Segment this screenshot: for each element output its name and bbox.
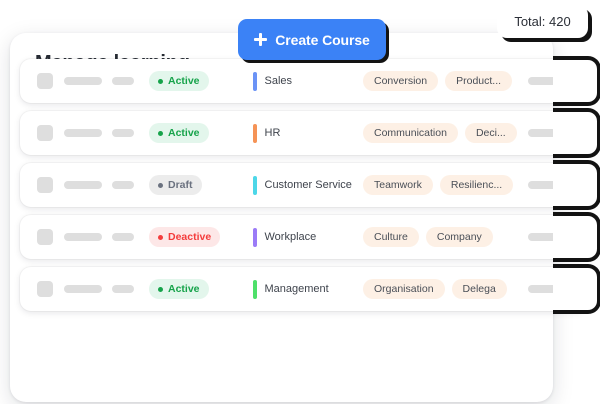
category-label: Sales bbox=[265, 75, 293, 87]
row-overflow-fill bbox=[553, 111, 597, 155]
row-thumbnail-placeholder bbox=[37, 73, 53, 89]
tag-chip[interactable]: Delega bbox=[452, 279, 507, 299]
category-label: HR bbox=[265, 127, 281, 139]
status-dot-icon bbox=[158, 79, 163, 84]
row-title-placeholder bbox=[64, 129, 102, 137]
status-dot-icon bbox=[158, 131, 163, 136]
status-label: Deactive bbox=[168, 231, 211, 243]
status-cell: Deactive bbox=[149, 227, 253, 247]
status-cell: Draft bbox=[149, 175, 253, 195]
category-accent-bar bbox=[253, 176, 257, 195]
table-row[interactable]: Draft Customer Service Teamwork Resilien… bbox=[20, 163, 587, 207]
status-dot-icon bbox=[158, 287, 163, 292]
status-cell: Active bbox=[149, 71, 253, 91]
row-thumbnail-placeholder bbox=[37, 229, 53, 245]
category-cell: Workplace bbox=[253, 228, 363, 247]
category-label: Workplace bbox=[265, 231, 317, 243]
row-title-placeholder bbox=[64, 285, 102, 293]
category-cell: Customer Service bbox=[253, 176, 363, 195]
row-overflow-fill bbox=[553, 59, 597, 103]
create-course-button-wrap: Create Course bbox=[238, 19, 386, 60]
category-accent-bar bbox=[253, 228, 257, 247]
tag-chip[interactable]: Culture bbox=[363, 227, 419, 247]
row-subtitle-placeholder bbox=[112, 285, 134, 293]
status-dot-icon bbox=[158, 235, 163, 240]
total-badge-wrap: Total: 420 bbox=[497, 5, 588, 38]
category-accent-bar bbox=[253, 124, 257, 143]
create-course-button[interactable]: Create Course bbox=[238, 19, 386, 60]
category-accent-bar bbox=[253, 72, 257, 91]
tags-cell: Teamwork Resilienc... bbox=[363, 175, 528, 195]
row-overflow-fill bbox=[553, 163, 597, 207]
status-label: Draft bbox=[168, 179, 193, 191]
status-label: Active bbox=[168, 75, 200, 87]
row-overflow-fill bbox=[553, 215, 597, 259]
row-thumbnail-placeholder bbox=[37, 177, 53, 193]
status-badge: Draft bbox=[149, 175, 202, 195]
tags-cell: Organisation Delega bbox=[363, 279, 528, 299]
status-cell: Active bbox=[149, 279, 253, 299]
row-title-placeholder bbox=[64, 77, 102, 85]
total-badge: Total: 420 bbox=[497, 5, 588, 38]
table-row[interactable]: Deactive Workplace Culture Company bbox=[20, 215, 587, 259]
table-row[interactable]: Active HR Communication Deci... bbox=[20, 111, 587, 155]
total-badge-label: Total: 420 bbox=[514, 14, 570, 29]
row-subtitle-placeholder bbox=[112, 129, 134, 137]
row-subtitle-placeholder bbox=[112, 77, 134, 85]
tag-chip[interactable]: Teamwork bbox=[363, 175, 433, 195]
row-subtitle-placeholder bbox=[112, 181, 134, 189]
row-thumbnail-placeholder bbox=[37, 125, 53, 141]
row-subtitle-placeholder bbox=[112, 233, 134, 241]
tag-chip[interactable]: Conversion bbox=[363, 71, 438, 91]
category-label: Management bbox=[265, 283, 329, 295]
tag-chip[interactable]: Resilienc... bbox=[440, 175, 513, 195]
table-row[interactable]: Active Management Organisation Delega bbox=[20, 267, 587, 311]
status-badge: Deactive bbox=[149, 227, 220, 247]
category-cell: Management bbox=[253, 280, 363, 299]
status-badge: Active bbox=[149, 123, 209, 143]
row-overflow-fill bbox=[553, 267, 597, 311]
screenshot-root: Manage learning Active Sales Conversion bbox=[0, 0, 600, 404]
category-accent-bar bbox=[253, 280, 257, 299]
status-label: Active bbox=[168, 283, 200, 295]
create-course-label: Create Course bbox=[275, 32, 369, 48]
table-row[interactable]: Active Sales Conversion Product... bbox=[20, 59, 587, 103]
category-cell: Sales bbox=[253, 72, 363, 91]
status-badge: Active bbox=[149, 71, 209, 91]
tag-chip[interactable]: Deci... bbox=[465, 123, 517, 143]
tag-chip[interactable]: Product... bbox=[445, 71, 512, 91]
category-label: Customer Service bbox=[265, 179, 352, 191]
status-dot-icon bbox=[158, 183, 163, 188]
tag-chip[interactable]: Organisation bbox=[363, 279, 445, 299]
status-badge: Active bbox=[149, 279, 209, 299]
tags-cell: Conversion Product... bbox=[363, 71, 528, 91]
tags-cell: Communication Deci... bbox=[363, 123, 528, 143]
tag-chip[interactable]: Company bbox=[426, 227, 493, 247]
row-title-placeholder bbox=[64, 181, 102, 189]
plus-icon bbox=[254, 33, 267, 46]
category-cell: HR bbox=[253, 124, 363, 143]
row-thumbnail-placeholder bbox=[37, 281, 53, 297]
status-label: Active bbox=[168, 127, 200, 139]
tag-chip[interactable]: Communication bbox=[363, 123, 458, 143]
status-cell: Active bbox=[149, 123, 253, 143]
tags-cell: Culture Company bbox=[363, 227, 528, 247]
row-title-placeholder bbox=[64, 233, 102, 241]
course-list: Active Sales Conversion Product... bbox=[20, 59, 587, 319]
